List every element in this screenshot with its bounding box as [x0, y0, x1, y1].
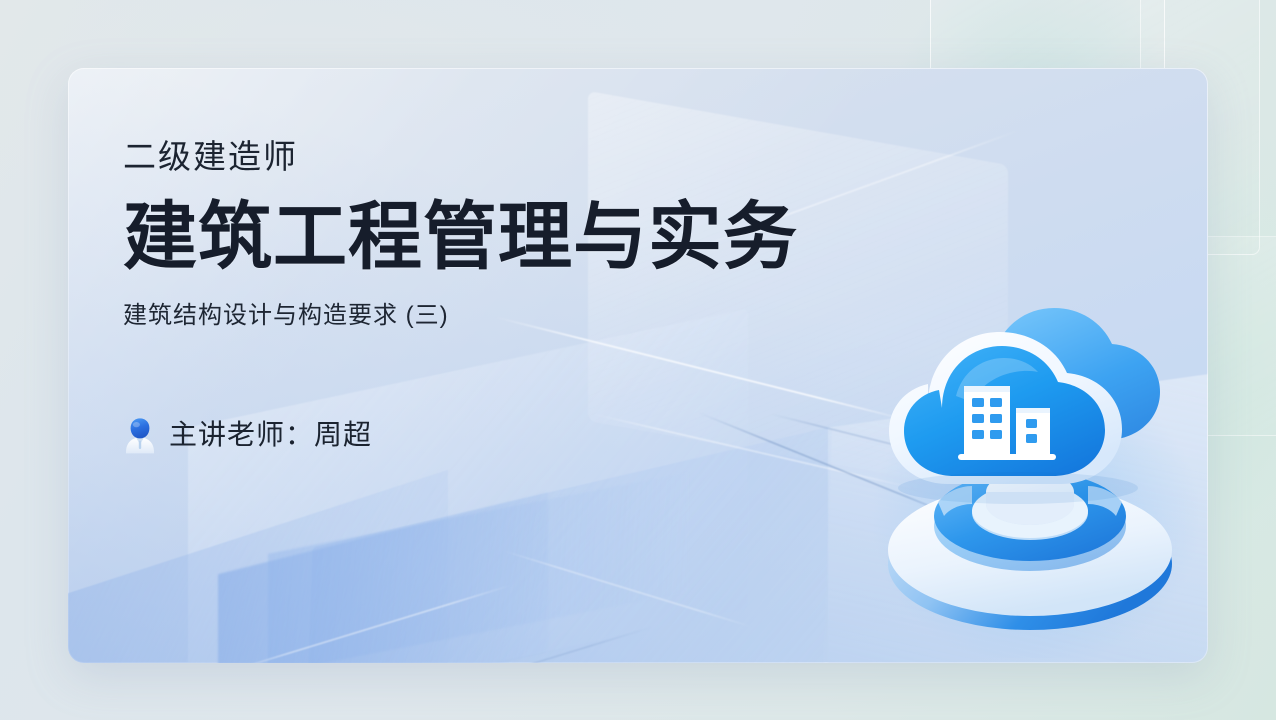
card-shape-wedge-1 — [218, 492, 548, 663]
card-shape-slab-3 — [68, 470, 448, 663]
slide-stage: 二级建造师 建筑工程管理与实务 建筑结构设计与构造要求 (三) — [0, 0, 1276, 720]
title-text-block: 二级建造师 建筑工程管理与实务 建筑结构设计与构造要求 (三) — [123, 140, 843, 454]
lesson-subtitle: 建筑结构设计与构造要求 (三) — [123, 304, 843, 328]
card-shape-slab-2 — [304, 426, 832, 663]
course-category: 二级建造师 — [123, 140, 843, 173]
card-highlight-line-3 — [224, 584, 511, 663]
page-title: 建筑工程管理与实务 — [123, 199, 843, 274]
cloud-building-3d-icon — [868, 268, 1198, 658]
card-shadow-line-3 — [403, 626, 652, 663]
card-shape-wedge-2 — [268, 472, 688, 663]
title-card: 二级建造师 建筑工程管理与实务 建筑结构设计与构造要求 (三) — [68, 68, 1208, 663]
presenter-name: 主讲老师：周超 — [169, 421, 372, 449]
presenter-row: 主讲老师：周超 — [123, 416, 843, 454]
person-avatar-icon — [123, 416, 157, 454]
card-highlight-line-4 — [503, 550, 752, 628]
